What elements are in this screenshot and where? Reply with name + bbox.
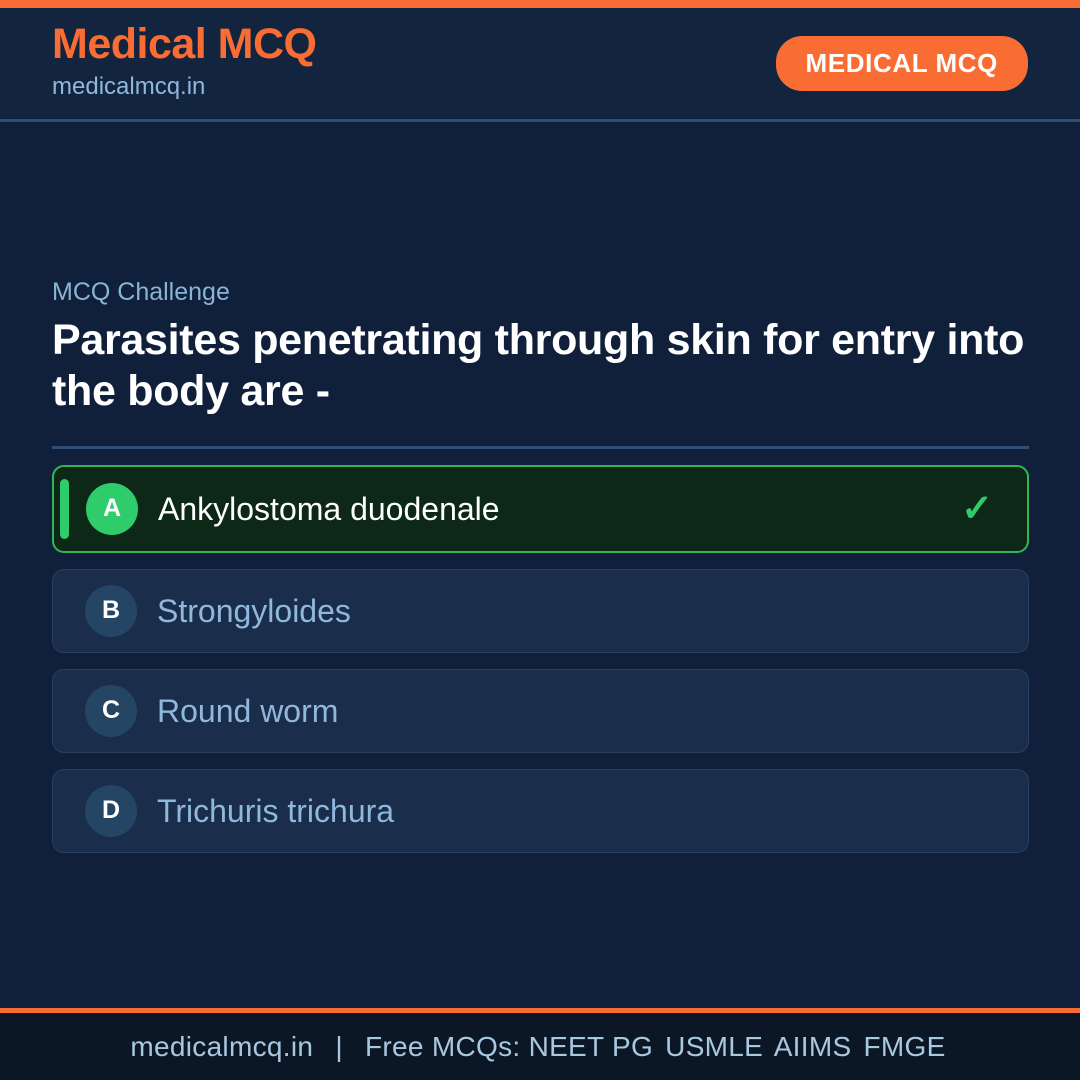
footer-exam-fmge[interactable]: FMGE: [864, 1031, 950, 1062]
option-letter-badge: A: [86, 483, 138, 535]
option-label: Strongyloides: [157, 592, 994, 630]
brand-title: Medical MCQ: [52, 22, 317, 67]
footer-exam-aiims[interactable]: AIIMS: [774, 1031, 856, 1062]
option-label: Trichuris trichura: [157, 792, 994, 830]
correct-accent-bar: [60, 479, 69, 539]
option-b[interactable]: B Strongyloides: [52, 569, 1029, 653]
options-list: A Ankylostoma duodenale ✓ B Strongyloide…: [52, 465, 1028, 853]
option-letter-badge: D: [85, 785, 137, 837]
footer-exam-usmle[interactable]: USMLE: [665, 1031, 767, 1062]
top-accent-stripe: [0, 0, 1080, 8]
option-label: Ankylostoma duodenale: [158, 490, 961, 528]
check-icon: ✓: [961, 490, 993, 528]
main-content: MCQ Challenge Parasites penetrating thro…: [0, 125, 1080, 1005]
footer-prefix: Free MCQs:: [365, 1031, 520, 1062]
question-text: Parasites penetrating through skin for e…: [52, 315, 1028, 416]
brand-block: Medical MCQ medicalmcq.in: [52, 22, 317, 105]
footer-separator: |: [321, 1031, 357, 1062]
footer-exam-neet-pg[interactable]: NEET PG: [529, 1031, 658, 1062]
footer-text: medicalmcq.in | Free MCQs: NEET PG USMLE…: [130, 1031, 949, 1063]
eyebrow-label: MCQ Challenge: [52, 277, 1028, 307]
option-a[interactable]: A Ankylostoma duodenale ✓: [52, 465, 1029, 553]
option-d[interactable]: D Trichuris trichura: [52, 769, 1029, 853]
option-c[interactable]: C Round worm: [52, 669, 1029, 753]
footer-site-link[interactable]: medicalmcq.in: [130, 1031, 313, 1062]
header-badge: MEDICAL MCQ: [776, 36, 1028, 91]
question-divider: [52, 446, 1029, 449]
option-letter-badge: C: [85, 685, 137, 737]
site-footer: medicalmcq.in | Free MCQs: NEET PG USMLE…: [0, 1008, 1080, 1080]
site-header: Medical MCQ medicalmcq.in MEDICAL MCQ: [0, 8, 1080, 122]
option-letter-badge: B: [85, 585, 137, 637]
option-label: Round worm: [157, 692, 994, 730]
brand-subtitle: medicalmcq.in: [52, 69, 317, 105]
